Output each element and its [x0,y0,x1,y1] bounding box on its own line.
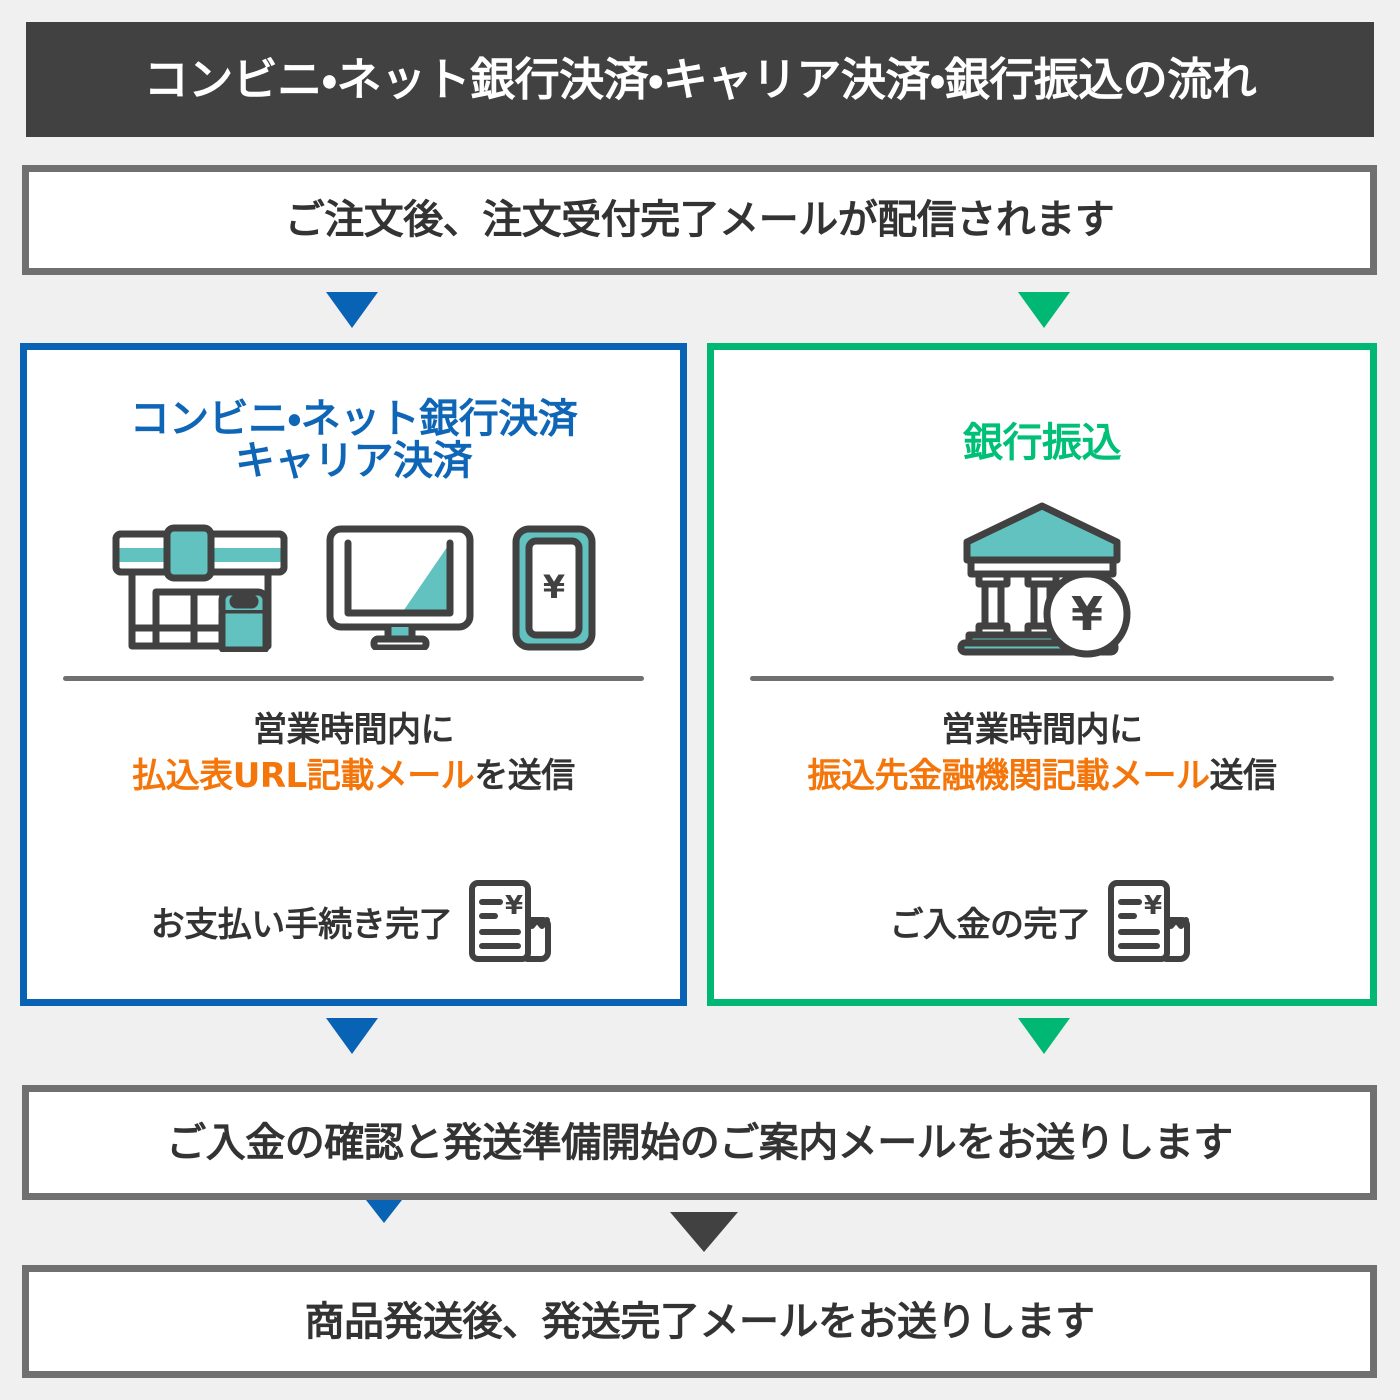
monitor-icon [326,525,474,650]
down-arrow-icon-bank-to-confirm [1018,1018,1070,1054]
method-card-bank-title-line1: 銀行振込 [963,420,1121,466]
method-card-conveni-title: コンビニ・ネット銀行決済 キャリア決済 [27,398,680,482]
diagram-title-bar: コンビニ・ネット銀行決済・キャリア決済・銀行振込の流れ [26,22,1374,137]
conveni-desc-highlight: 払込表URL記載メール [132,756,474,796]
method-card-conveni-description: 営業時間内に 払込表URL記載メールを送信 [27,708,680,800]
method-card-bank-finish-row: ご入金の完了 ¥ [714,878,1370,964]
smartphone-yen-icon: ¥ [512,525,596,651]
conveni-desc-suffix: を送信 [474,756,575,796]
bank-yen-icon: ¥ [947,498,1137,658]
bank-desc-highlight: 振込先金融機関記載メール [808,756,1210,796]
method-card-conveni-finish-row: お支払い手続き完了 ¥ [27,878,680,964]
method-card-bank-title: 銀行振込 [714,422,1370,464]
receipt-yen-icon-bank: ¥ [1103,878,1195,964]
method-card-conveni-icon-row: ¥ [27,520,680,655]
step-order-email-label: ご注文後、注文受付完了メールが配信されます [285,200,1115,240]
method-card-conveni-title-line2: キャリア決済 [235,438,472,484]
down-arrow-icon-to-shipped [670,1212,738,1252]
down-arrow-icon-to-bank [1018,292,1070,328]
down-arrow-icon-conveni-to-confirm [326,1018,378,1054]
step-payment-confirm-band: ご入金の確認と発送準備開始のご案内メールをお送りします [22,1085,1377,1200]
step-order-email-band: ご注文後、注文受付完了メールが配信されます [22,165,1377,275]
svg-text:¥: ¥ [1071,587,1103,641]
method-card-conveni-divider [63,676,644,681]
down-arrow-icon-to-conveni [326,292,378,328]
svg-text:¥: ¥ [542,568,564,606]
method-card-bank-divider [750,676,1334,681]
bank-desc-suffix: 送信 [1210,756,1277,796]
conveni-finish-label: お支払い手続き完了 [151,897,453,946]
step-payment-confirm-label: ご入金の確認と発送準備開始のご案内メールをお送りします [166,1123,1233,1163]
diagram-title: コンビニ・ネット銀行決済・キャリア決済・銀行振込の流れ [144,57,1256,102]
conveni-desc-prefix: 営業時間内に [253,710,454,750]
receipt-yen-icon: ¥ [464,878,556,964]
flow-diagram: コンビニ・ネット銀行決済・キャリア決済・銀行振込の流れ ご注文後、注文受付完了メ… [0,0,1400,1400]
store-icon [112,524,288,652]
method-card-bank: 銀行振込 [707,343,1377,1006]
method-card-bank-icon-row: ¥ [714,495,1370,660]
method-card-conveni-title-line1: コンビニ・ネット銀行決済 [130,396,578,442]
bank-finish-label: ご入金の完了 [890,897,1091,946]
svg-text:¥: ¥ [505,891,523,921]
svg-text:¥: ¥ [1143,891,1161,921]
step-shipping-label: 商品発送後、発送完了メールをお送りします [305,1302,1095,1342]
method-card-bank-description: 営業時間内に 振込先金融機関記載メール送信 [714,708,1370,800]
step-shipping-band: 商品発送後、発送完了メールをお送りします [22,1265,1377,1378]
method-card-conveni: コンビニ・ネット銀行決済 キャリア決済 [20,343,687,1006]
bank-desc-prefix: 営業時間内に [942,710,1143,750]
